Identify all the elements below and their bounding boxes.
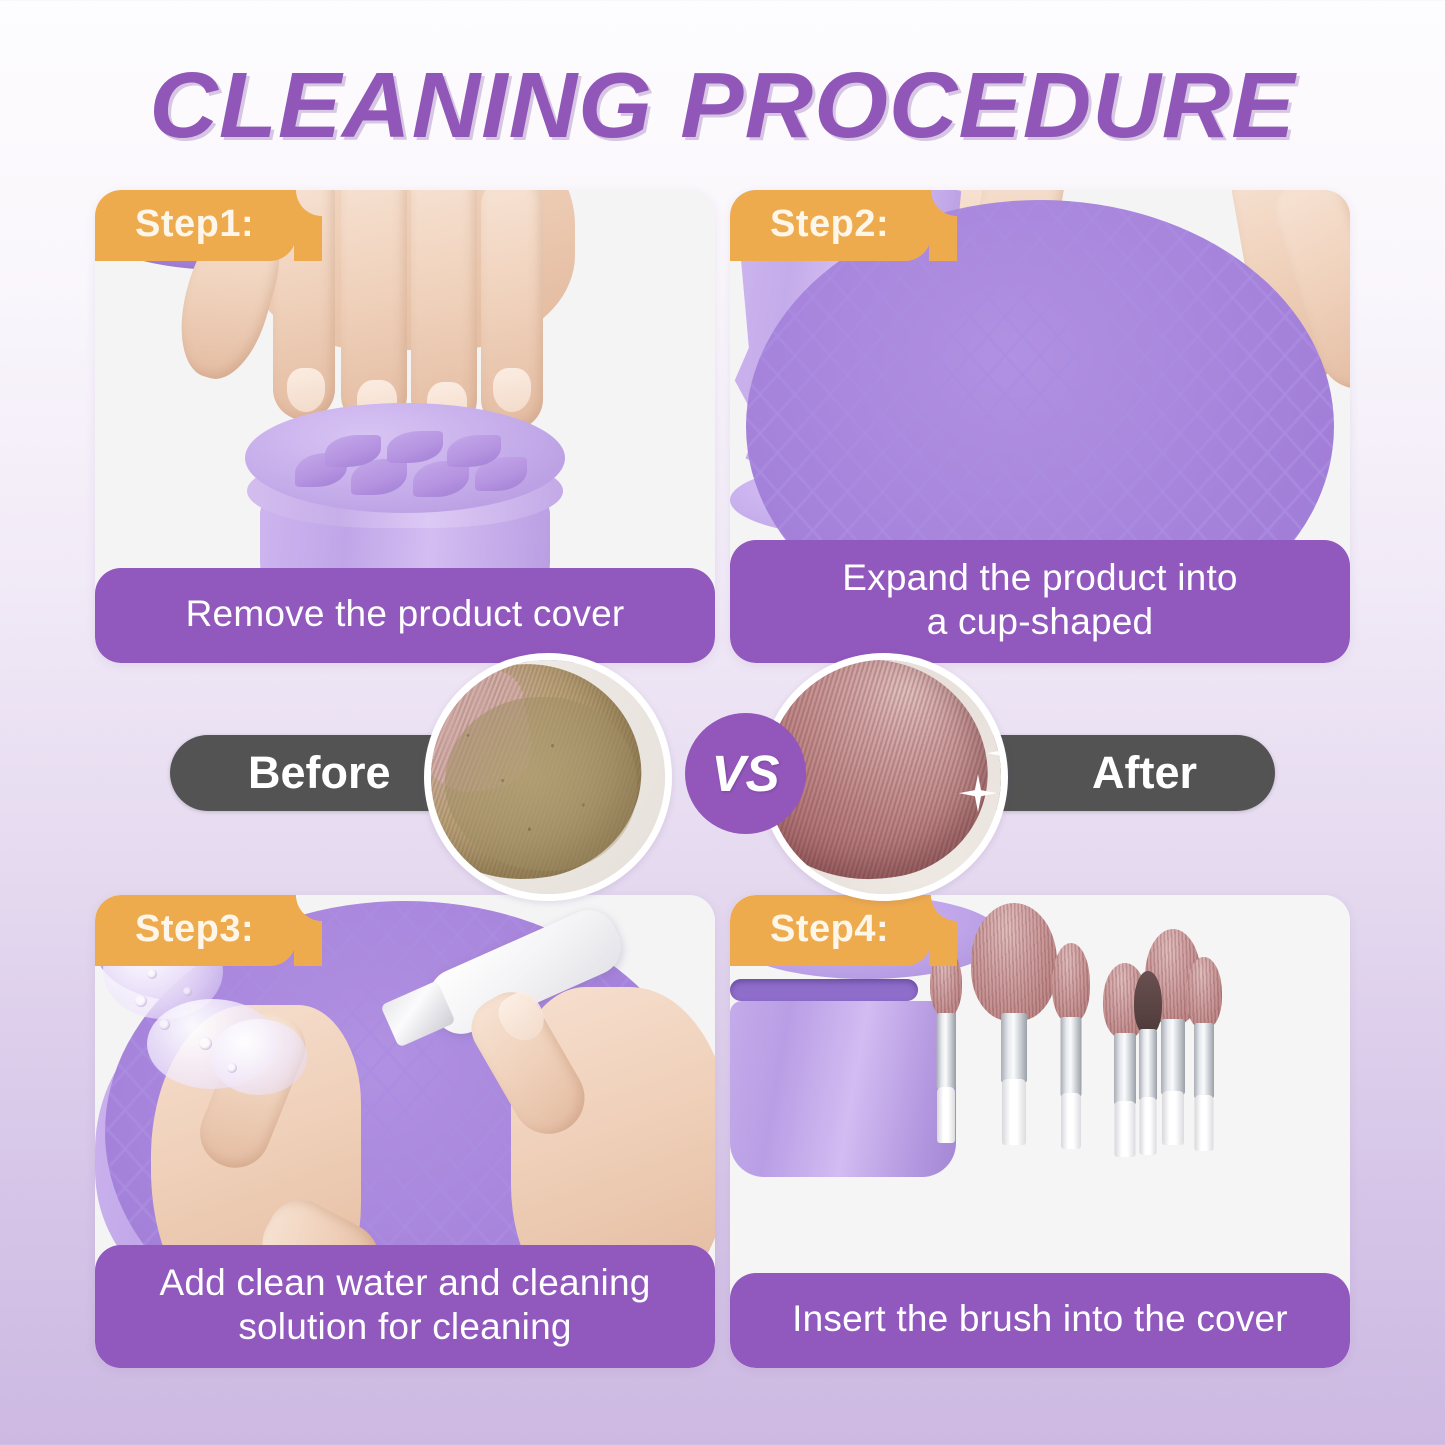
step-caption-3-line-2: solution for cleaning (238, 1306, 571, 1347)
lid-brush-slot (730, 979, 918, 1001)
step-caption-3: Add clean water and cleaning solution fo… (95, 1245, 715, 1368)
brush-bristles (971, 903, 1057, 1021)
brush-handle (1061, 1093, 1081, 1149)
step-card-4: Step4: Insert the brush into the cover (730, 895, 1350, 1368)
step-caption-2: Expand the product into a cup-shaped (730, 540, 1350, 663)
before-brush-photo (424, 653, 672, 901)
step-caption-3-line-1: Add clean water and cleaning (159, 1262, 650, 1303)
cup-body (730, 1001, 956, 1177)
vs-badge: VS (685, 713, 806, 834)
makeup-brush (1128, 971, 1168, 1153)
step-badge-1: Step1: (95, 190, 296, 261)
brush-bristles (1134, 971, 1162, 1035)
brush-handle (1140, 1097, 1157, 1155)
makeup-brush (926, 949, 966, 1141)
dirty-brush-illustration (431, 660, 665, 894)
brush-bristles (1052, 943, 1090, 1023)
step-badge-4: Step4: (730, 895, 931, 966)
step-badge-3: Step3: (95, 895, 296, 966)
brush-handle (937, 1087, 955, 1143)
brush-ferrule (1061, 1017, 1082, 1097)
brush-handle (1002, 1079, 1026, 1145)
step-caption-2-line-1: Expand the product into (842, 557, 1237, 598)
fingernail (493, 368, 531, 412)
makeup-brush (1048, 943, 1094, 1143)
page-title: CLEANING PROCEDURE (0, 52, 1445, 159)
brush-ferrule (1194, 1023, 1214, 1099)
fingernail (287, 368, 325, 412)
step-caption-4: Insert the brush into the cover (730, 1273, 1350, 1368)
brush-ferrule (1001, 1013, 1027, 1083)
makeup-brush (1182, 957, 1226, 1149)
brush-ferrule (1139, 1029, 1157, 1101)
powder-residue (445, 697, 637, 870)
step-card-3: Step3: Add clean water and cleaning solu… (95, 895, 715, 1368)
step-badge-2: Step2: (730, 190, 931, 261)
brush-ferrule (937, 1013, 956, 1089)
brush-bristles (1186, 957, 1222, 1029)
step-caption-1: Remove the product cover (95, 568, 715, 663)
step-card-1: Step1: Remove the product cover (95, 190, 715, 663)
step-card-2: Step2: Expand the product into a cup-sha… (730, 190, 1350, 663)
after-label-pill: After (965, 735, 1275, 811)
brush-handle (1195, 1095, 1214, 1151)
step-caption-2-line-2: a cup-shaped (927, 601, 1154, 642)
page-title-wrap: CLEANING PROCEDURE (0, 52, 1445, 159)
